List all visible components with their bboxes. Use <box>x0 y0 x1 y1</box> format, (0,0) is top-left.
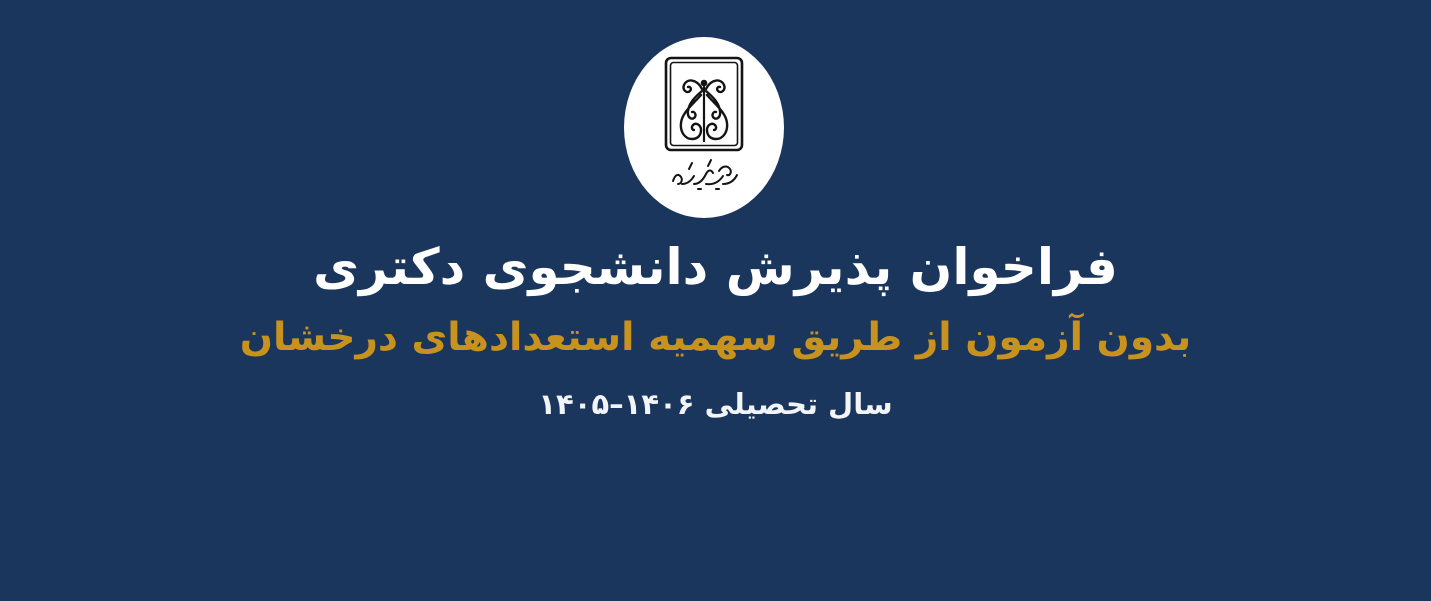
logo-institution-name <box>673 160 737 189</box>
university-logo <box>624 37 784 218</box>
page-title: فراخوان پذیرش دانشجوی دکتری <box>0 238 1431 297</box>
poster-text-block: فراخوان پذیرش دانشجوی دکتری بدون آزمون ا… <box>0 238 1431 422</box>
university-of-guilan-emblem-icon <box>661 53 747 203</box>
admission-announcement-poster: فراخوان پذیرش دانشجوی دکتری بدون آزمون ا… <box>0 0 1431 601</box>
page-subtitle: بدون آزمون از طریق سهمیه استعدادهای درخش… <box>0 315 1431 361</box>
academic-year-label: سال تحصیلی ۱۴۰۶–۱۴۰۵ <box>0 387 1431 422</box>
